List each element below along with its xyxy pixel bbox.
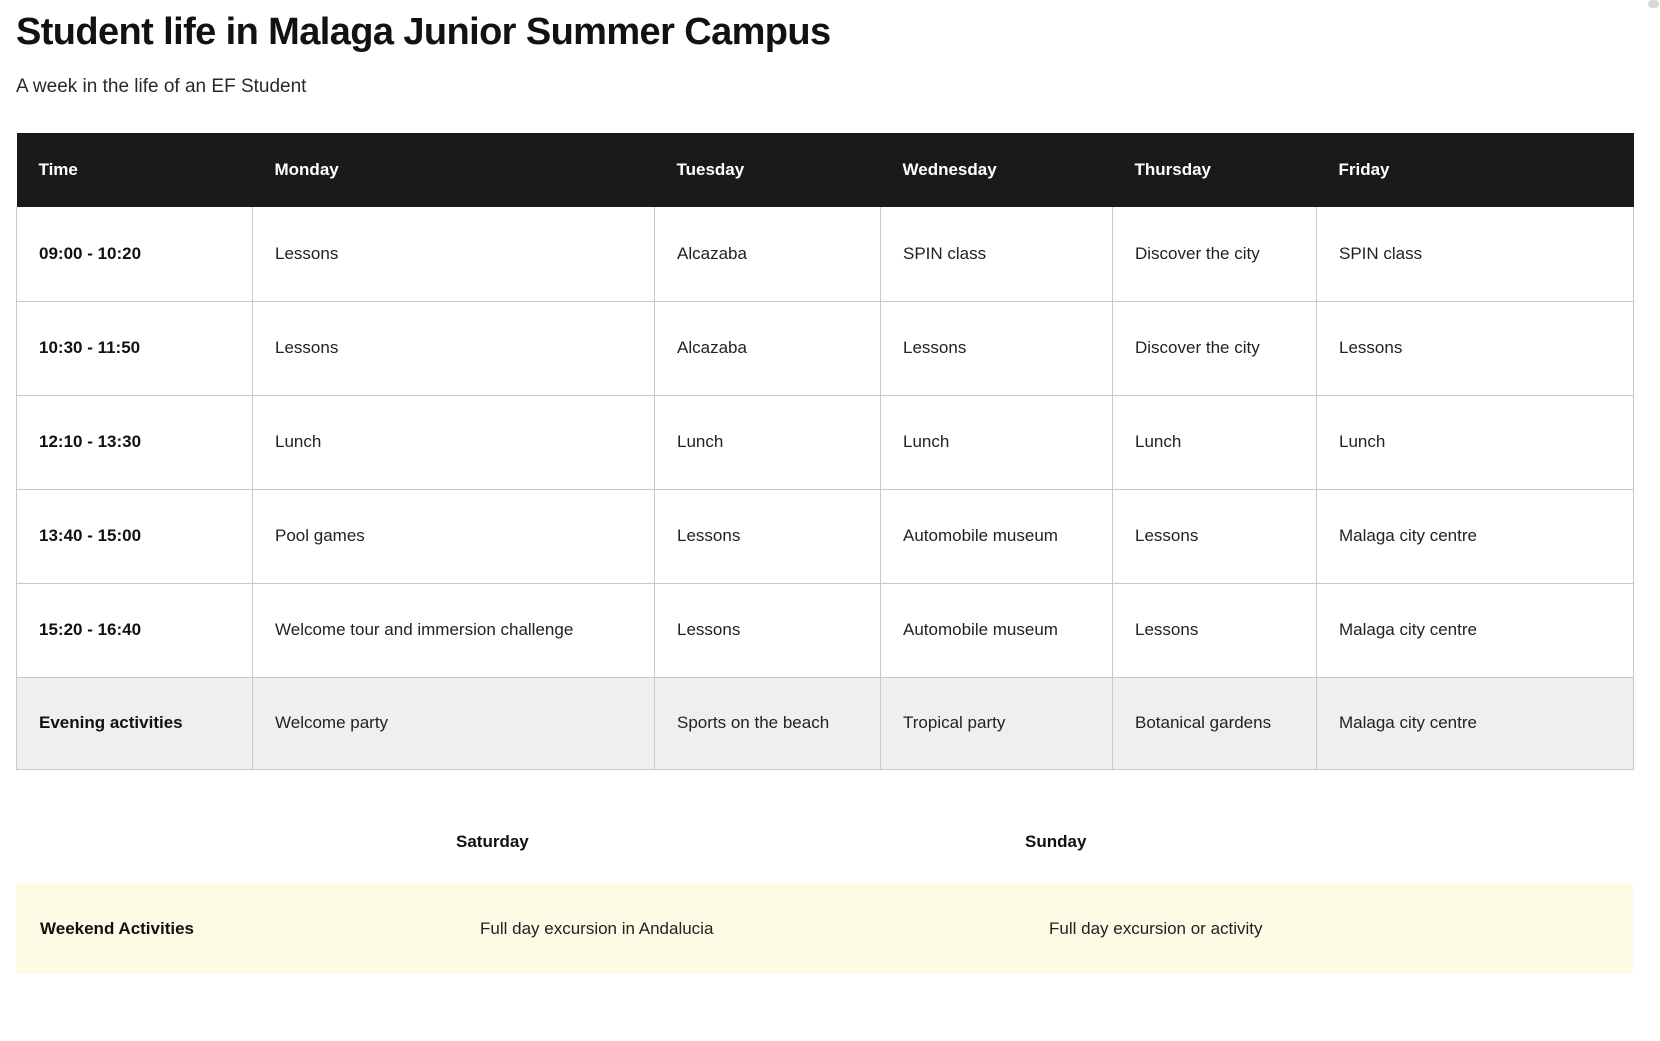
cell-monday: Welcome tour and immersion challenge (253, 583, 655, 677)
weekly-schedule-table: Time Monday Tuesday Wednesday Thursday F… (16, 133, 1634, 770)
table-row-evening: Evening activities Welcome party Sports … (17, 677, 1634, 769)
cell-time: 12:10 - 13:30 (17, 395, 253, 489)
column-header-friday: Friday (1317, 133, 1634, 207)
column-header-sunday: Sunday (1025, 832, 1086, 852)
column-header-time: Time (17, 133, 253, 207)
page-subtitle: A week in the life of an EF Student (16, 74, 306, 100)
cell-wednesday: Lunch (881, 395, 1113, 489)
cell-thursday: Discover the city (1113, 301, 1317, 395)
page-title: Student life in Malaga Junior Summer Cam… (16, 8, 831, 56)
table-row: 15:20 - 16:40 Welcome tour and immersion… (17, 583, 1634, 677)
table-body: 09:00 - 10:20 Lessons Alcazaba SPIN clas… (17, 207, 1634, 769)
cell-thursday: Botanical gardens (1113, 677, 1317, 769)
cell-thursday: Lunch (1113, 395, 1317, 489)
cell-time: 10:30 - 11:50 (17, 301, 253, 395)
weekend-header: Saturday Sunday (16, 822, 1633, 884)
cell-monday: Lessons (253, 301, 655, 395)
cell-saturday: Full day excursion in Andalucia (456, 884, 1025, 974)
table-row: 13:40 - 15:00 Pool games Lessons Automob… (17, 489, 1634, 583)
cell-tuesday: Alcazaba (655, 207, 881, 301)
cell-thursday: Lessons (1113, 489, 1317, 583)
cell-weekend-label: Weekend Activities (16, 884, 456, 974)
vertical-scrollbar[interactable] (1646, 0, 1660, 1041)
cell-wednesday: Lessons (881, 301, 1113, 395)
cell-thursday: Lessons (1113, 583, 1317, 677)
cell-tuesday: Lunch (655, 395, 881, 489)
schedule-page: Student life in Malaga Junior Summer Cam… (0, 0, 1660, 1041)
cell-sunday: Full day excursion or activity (1025, 884, 1633, 974)
cell-monday: Welcome party (253, 677, 655, 769)
table-row: 10:30 - 11:50 Lessons Alcazaba Lessons D… (17, 301, 1634, 395)
cell-evening-label: Evening activities (17, 677, 253, 769)
cell-wednesday: SPIN class (881, 207, 1113, 301)
cell-friday: Malaga city centre (1317, 583, 1634, 677)
scrollbar-thumb[interactable] (1648, 0, 1659, 8)
cell-time: 13:40 - 15:00 (17, 489, 253, 583)
cell-monday: Lunch (253, 395, 655, 489)
table-header-row: Time Monday Tuesday Wednesday Thursday F… (17, 133, 1634, 207)
cell-time: 15:20 - 16:40 (17, 583, 253, 677)
cell-friday: SPIN class (1317, 207, 1634, 301)
cell-wednesday: Tropical party (881, 677, 1113, 769)
cell-monday: Pool games (253, 489, 655, 583)
column-header-wednesday: Wednesday (881, 133, 1113, 207)
cell-tuesday: Alcazaba (655, 301, 881, 395)
cell-friday: Malaga city centre (1317, 677, 1634, 769)
cell-tuesday: Lessons (655, 489, 881, 583)
cell-time: 09:00 - 10:20 (17, 207, 253, 301)
table-row: 12:10 - 13:30 Lunch Lunch Lunch Lunch Lu… (17, 395, 1634, 489)
column-header-monday: Monday (253, 133, 655, 207)
table-row-weekend: Weekend Activities Full day excursion in… (16, 884, 1633, 974)
cell-friday: Malaga city centre (1317, 489, 1634, 583)
cell-friday: Lessons (1317, 301, 1634, 395)
cell-tuesday: Sports on the beach (655, 677, 881, 769)
column-header-tuesday: Tuesday (655, 133, 881, 207)
weekend-activities-table: Weekend Activities Full day excursion in… (16, 884, 1633, 974)
table-row: 09:00 - 10:20 Lessons Alcazaba SPIN clas… (17, 207, 1634, 301)
cell-tuesday: Lessons (655, 583, 881, 677)
table-header: Time Monday Tuesday Wednesday Thursday F… (17, 133, 1634, 207)
column-header-thursday: Thursday (1113, 133, 1317, 207)
column-header-saturday: Saturday (456, 832, 529, 852)
cell-wednesday: Automobile museum (881, 583, 1113, 677)
cell-thursday: Discover the city (1113, 207, 1317, 301)
cell-friday: Lunch (1317, 395, 1634, 489)
cell-wednesday: Automobile museum (881, 489, 1113, 583)
cell-monday: Lessons (253, 207, 655, 301)
